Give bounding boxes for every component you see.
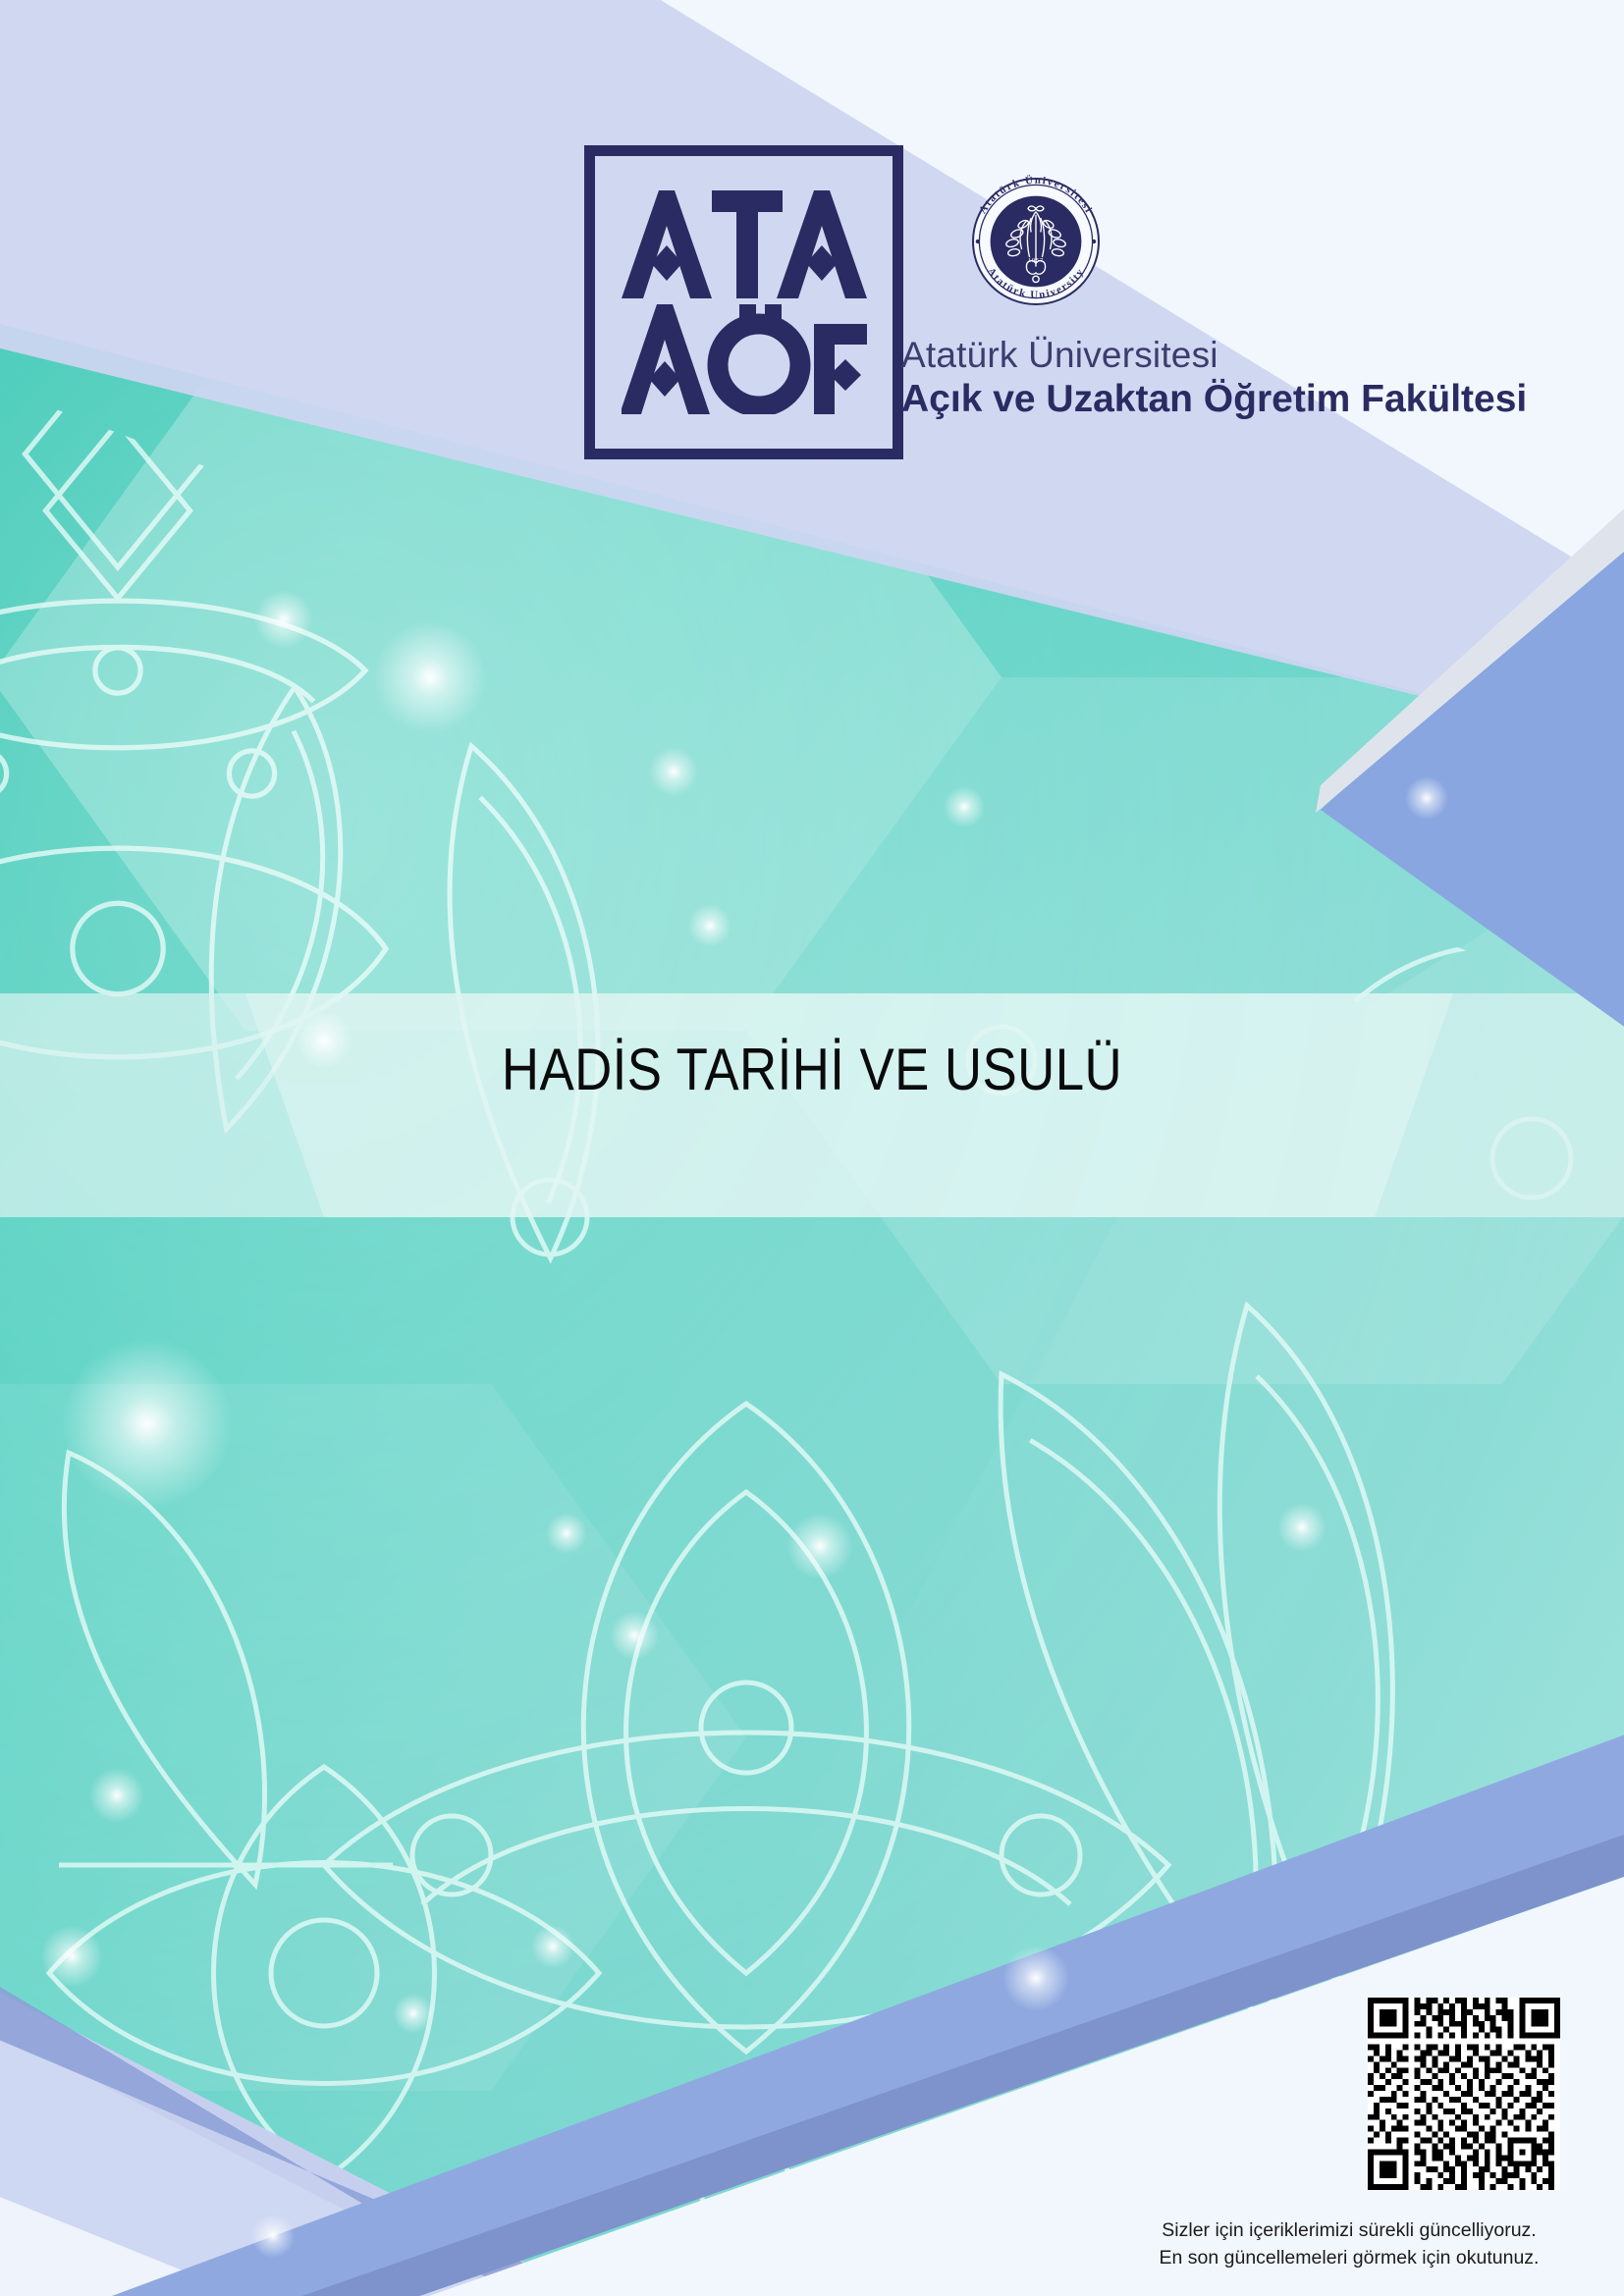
svg-text:1957: 1957	[1028, 257, 1044, 264]
qr-instruction-line2: En son güncellemeleri görmek için okutun…	[1133, 2244, 1565, 2271]
book-cover-page: Atatürk Üniversitesi Atatürk University	[0, 0, 1624, 2296]
aof-wordmark-icon	[622, 304, 867, 414]
institution-name: Atatürk Üniversitesi	[901, 334, 1527, 377]
qr-code[interactable]	[1368, 1998, 1560, 2190]
faculty-name: Açık ve Uzaktan Öğretim Fakültesi	[901, 377, 1527, 422]
book-title: HADİS TARİHİ VE USULÜ	[97, 1036, 1527, 1103]
ata-aof-logo	[584, 145, 903, 459]
qr-code-image	[1368, 1998, 1560, 2190]
qr-instruction-text: Sizler için içeriklerimizi sürekli günce…	[1133, 2216, 1565, 2272]
ataturk-university-seal-icon: Atatürk Üniversitesi Atatürk University	[957, 163, 1114, 320]
ata-aof-logo-box	[584, 145, 903, 459]
ata-wordmark-icon	[622, 190, 867, 298]
institution-text-block: Atatürk Üniversitesi Açık ve Uzaktan Öğr…	[901, 334, 1527, 422]
qr-instruction-line1: Sizler için içeriklerimizi sürekli günce…	[1133, 2216, 1565, 2244]
